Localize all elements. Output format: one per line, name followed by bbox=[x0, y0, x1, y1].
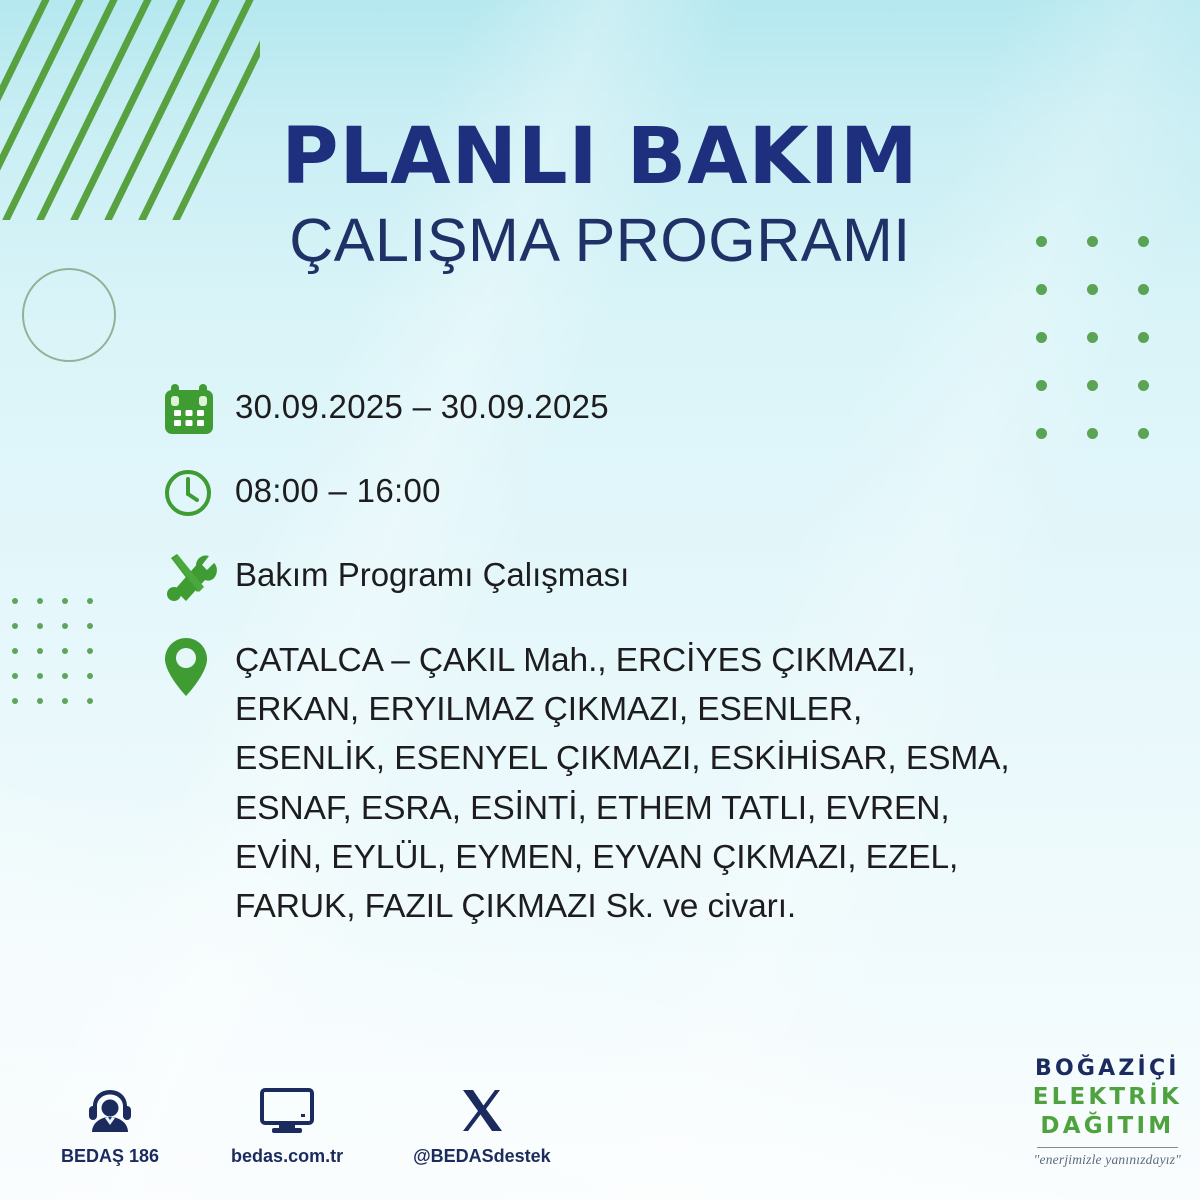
contact-phone[interactable]: BEDAŞ 186 bbox=[61, 1085, 159, 1167]
headset-support-icon bbox=[83, 1085, 137, 1137]
decorative-dot bbox=[62, 673, 68, 679]
info-row-address: ÇATALCA – ÇAKIL Mah., ERCİYES ÇIKMAZI,ER… bbox=[163, 634, 1083, 931]
date-range-text: 30.09.2025 – 30.09.2025 bbox=[235, 378, 609, 429]
address-line: ÇATALCA – ÇAKIL Mah., ERCİYES ÇIKMAZI, bbox=[235, 636, 1010, 685]
decorative-dot bbox=[1087, 332, 1098, 343]
decorative-dot bbox=[1087, 428, 1098, 439]
brand-line-bogazici: BOĞAZİÇİ bbox=[1033, 1058, 1182, 1080]
contact-website[interactable]: bedas.com.tr bbox=[231, 1085, 343, 1167]
page-title: PLANLI BAKIM bbox=[0, 118, 1200, 196]
decorative-dot bbox=[12, 623, 18, 629]
decorative-dot bbox=[62, 648, 68, 654]
work-type-text: Bakım Programı Çalışması bbox=[235, 546, 629, 597]
decorative-dot bbox=[12, 673, 18, 679]
contact-x[interactable]: @BEDASdestek bbox=[413, 1085, 551, 1167]
decorative-dot bbox=[37, 623, 43, 629]
decorative-dot bbox=[1087, 284, 1098, 295]
info-row-work-type: Bakım Programı Çalışması bbox=[163, 546, 1083, 608]
address-line: ERKAN, ERYILMAZ ÇIKMAZI, ESENLER, bbox=[235, 685, 1010, 734]
decorative-dot bbox=[1036, 332, 1047, 343]
contact-x-label: @BEDASdestek bbox=[413, 1146, 551, 1167]
address-text: ÇATALCA – ÇAKIL Mah., ERCİYES ÇIKMAZI,ER… bbox=[235, 634, 1010, 931]
address-line: FARUK, FAZIL ÇIKMAZI Sk. ve civarı. bbox=[235, 882, 1010, 931]
brand-line-dagitim: DAĞITIM bbox=[1033, 1115, 1182, 1138]
x-twitter-icon bbox=[458, 1085, 506, 1137]
decorative-dot bbox=[62, 598, 68, 604]
decorative-dot bbox=[12, 648, 18, 654]
info-row-date: 30.09.2025 – 30.09.2025 bbox=[163, 378, 1083, 440]
contact-phone-label: BEDAŞ 186 bbox=[61, 1146, 159, 1167]
decorative-dot bbox=[1138, 428, 1149, 439]
info-row-time: 08:00 – 16:00 bbox=[163, 462, 1083, 524]
decorative-dot bbox=[37, 598, 43, 604]
time-range-text: 08:00 – 16:00 bbox=[235, 462, 441, 513]
footer-contacts: BEDAŞ 186 bedas.com.tr @BEDASdestek bbox=[55, 1085, 597, 1167]
brand-logo: BOĞAZİÇİ ELEKTRİK DAĞITIM "enerjimizle y… bbox=[1033, 1058, 1182, 1167]
brand-line-elektrik: ELEKTRİK bbox=[1033, 1086, 1182, 1109]
decorative-dot bbox=[12, 698, 18, 704]
decorative-dot bbox=[1138, 332, 1149, 343]
circle-outline-decoration bbox=[22, 268, 116, 362]
address-line: ESENLİK, ESENYEL ÇIKMAZI, ESKİHİSAR, ESM… bbox=[235, 734, 1010, 783]
decorative-dot bbox=[37, 673, 43, 679]
calendar-icon bbox=[163, 378, 235, 440]
clock-icon bbox=[163, 462, 235, 524]
decorative-dot bbox=[37, 698, 43, 704]
tools-icon bbox=[163, 546, 235, 608]
decorative-dot bbox=[1087, 380, 1098, 391]
decorative-dot bbox=[12, 598, 18, 604]
decorative-dot bbox=[37, 648, 43, 654]
address-line: EVİN, EYLÜL, EYMEN, EYVAN ÇIKMAZI, EZEL, bbox=[235, 833, 1010, 882]
decorative-dot bbox=[87, 623, 93, 629]
address-line: ESNAF, ESRA, ESİNTİ, ETHEM TATLI, EVREN, bbox=[235, 784, 1010, 833]
poster-heading: PLANLI BAKIM ÇALIŞMA PROGRAMI bbox=[0, 118, 1200, 272]
decorative-dot bbox=[62, 623, 68, 629]
page-subtitle: ÇALIŞMA PROGRAMI bbox=[0, 208, 1200, 272]
decorative-dot bbox=[87, 598, 93, 604]
monitor-website-icon bbox=[259, 1085, 315, 1137]
decorative-dot bbox=[87, 673, 93, 679]
decorative-dot bbox=[62, 698, 68, 704]
decorative-dot bbox=[1138, 380, 1149, 391]
poster-canvas: PLANLI BAKIM ÇALIŞMA PROGRAMI bbox=[0, 0, 1200, 1200]
info-list: 30.09.2025 – 30.09.2025 08:00 – 16:00 bbox=[163, 378, 1083, 931]
decorative-dot bbox=[1036, 284, 1047, 295]
dot-grid-left-decoration bbox=[12, 598, 122, 708]
brand-tagline: "enerjimizle yanınızdayız" bbox=[1033, 1153, 1182, 1167]
decorative-dot bbox=[87, 698, 93, 704]
location-pin-icon bbox=[163, 634, 235, 698]
brand-divider bbox=[1037, 1147, 1178, 1148]
contact-website-label: bedas.com.tr bbox=[231, 1146, 343, 1167]
decorative-dot bbox=[1138, 284, 1149, 295]
decorative-dot bbox=[87, 648, 93, 654]
